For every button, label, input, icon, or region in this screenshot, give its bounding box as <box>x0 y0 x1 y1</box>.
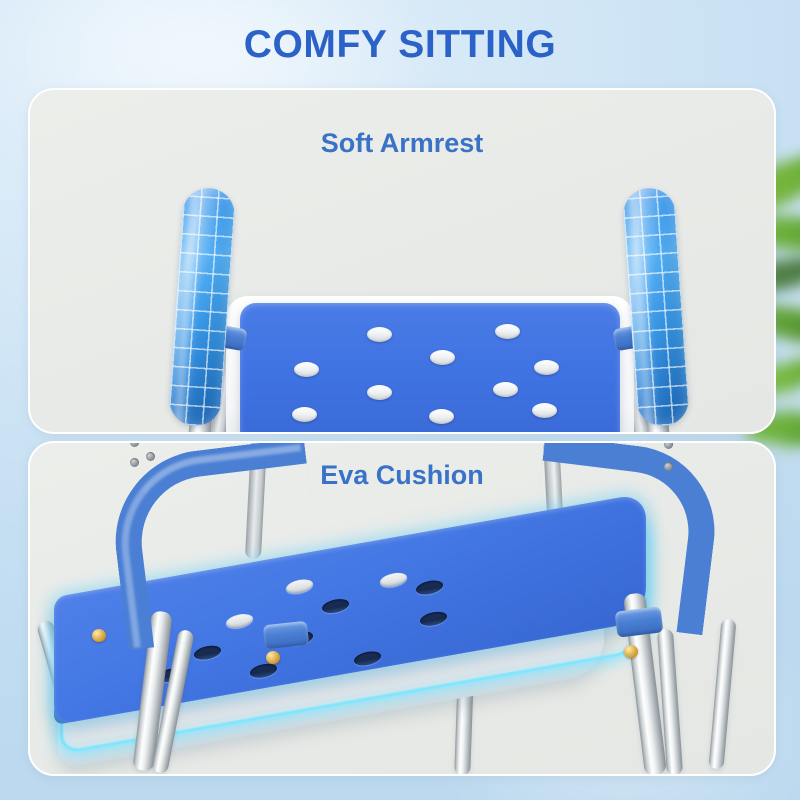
drain-hole <box>493 382 518 397</box>
page-title: COMFY SITTING <box>0 22 800 68</box>
drain-hole <box>294 362 319 377</box>
feature-panel-armrest: Soft Armrest <box>28 88 776 434</box>
adjustment-knob-center <box>266 651 280 664</box>
drain-hole <box>250 662 277 680</box>
drain-hole <box>532 403 557 418</box>
drain-hole <box>367 327 392 342</box>
drain-hole <box>194 644 221 662</box>
cushion-illustration <box>30 443 774 774</box>
drain-hole <box>380 571 407 589</box>
panel-label-cushion: Eva Cushion <box>30 460 774 491</box>
drain-hole <box>354 650 381 668</box>
eva-cushion <box>240 303 620 434</box>
drain-hole <box>429 409 454 424</box>
collar-ring-left <box>263 621 309 649</box>
drain-hole <box>430 350 455 365</box>
panel-label-armrest: Soft Armrest <box>30 128 774 159</box>
leg-back-right <box>708 619 736 770</box>
adjustment-knob-right <box>624 645 638 658</box>
drain-hole <box>495 324 520 339</box>
drain-hole <box>367 385 392 400</box>
collar-ring-right <box>615 606 664 637</box>
drain-hole <box>420 610 447 628</box>
drain-hole <box>322 597 349 615</box>
drain-hole <box>416 579 443 597</box>
product-feature-graphic: COMFY SITTING Soft Armrest <box>0 0 800 800</box>
adjustment-knob-left <box>92 629 106 642</box>
drain-hole <box>292 407 317 422</box>
feature-panel-cushion: Eva Cushion <box>28 441 776 776</box>
drain-hole <box>534 360 559 375</box>
